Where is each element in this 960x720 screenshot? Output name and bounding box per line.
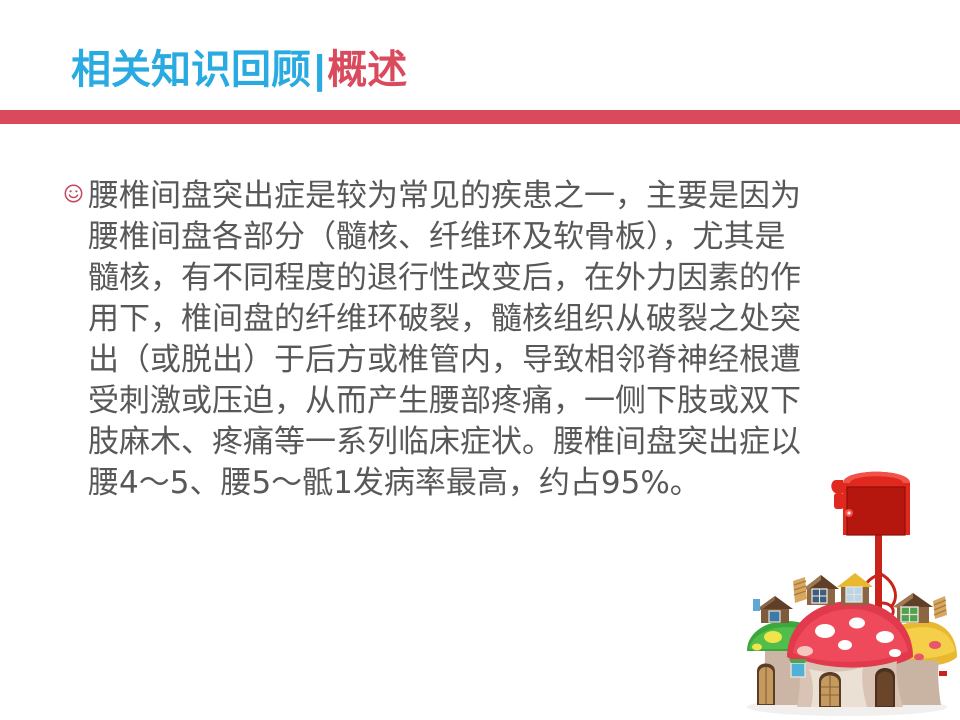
page-title-main: 相关知识回顾 [71, 48, 311, 92]
page-title-separator: | [311, 48, 327, 92]
body-line: 髓核，有不同程度的退行性改变后，在外力因素的作 [88, 258, 864, 299]
body-line: 用下，椎间盘的纤维环破裂，髓核组织从破裂之处突 [88, 299, 864, 340]
body-line: 腰椎间盘突出症是较为常见的疾患之一，主要是因为 [88, 176, 864, 217]
body-line: 出（或脱出）于后方或椎管内，导致相邻脊神经根遭 [88, 340, 864, 381]
smiley-face-icon [64, 184, 83, 203]
body-line: 受刺激或压迫，从而产生腰部疼痛，一侧下肢或双下 [88, 381, 864, 422]
header-divider [0, 110, 960, 124]
slide-header: 相关知识回顾|概述 [0, 0, 960, 124]
page-title: 相关知识回顾|概述 [71, 44, 407, 96]
slide: 相关知识回顾|概述 腰椎间盘突出症是较为常见的疾患之一，主要是因为 腰椎间盘各部… [0, 0, 960, 720]
mushroom-houses-with-mailbox-image [735, 455, 960, 720]
body-line: 腰椎间盘各部分（髓核、纤维环及软骨板），尤其是 [88, 217, 864, 258]
page-title-sub: 概述 [327, 48, 407, 92]
